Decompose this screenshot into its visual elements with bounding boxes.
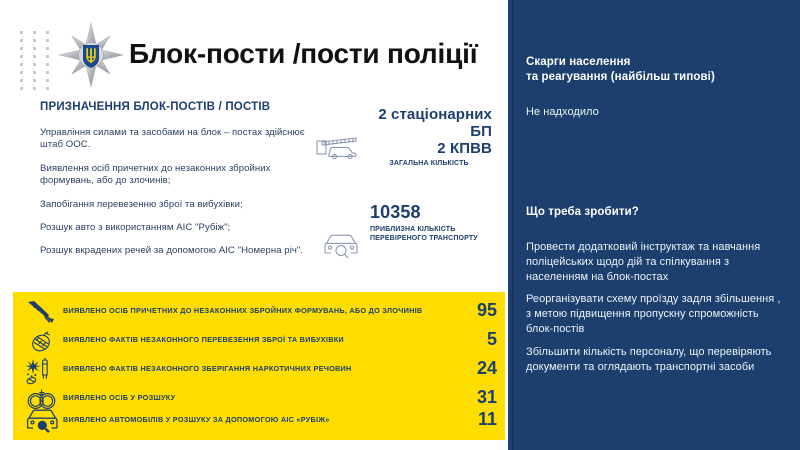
- right-info-panel: Скарги населеннята реагування (найбільш …: [508, 0, 800, 450]
- result-label: ВИЯВЛЕНО ФАКТІВ НЕЗАКОННОГО ПЕРЕВЕЗЕННЯ …: [63, 335, 445, 345]
- result-label: ВИЯВЛЕНО АВТОМОБІЛІВ У РОЗШУКУ ЗА ДОПОМО…: [63, 415, 445, 425]
- result-value: 95: [445, 297, 497, 323]
- todo-title: Що треба зробити?: [526, 205, 776, 220]
- grenade-icon: [25, 327, 59, 356]
- table-row: ВИЯВЛЕНО АВТОМОБІЛІВ У РОЗШУКУ ЗА ДОПОМО…: [13, 407, 505, 436]
- list-item: Управління силами та засобами на блок – …: [40, 127, 312, 152]
- car-magnifier-icon: [322, 232, 360, 265]
- list-item: Виявлення осіб причетних до незаконних з…: [40, 163, 312, 188]
- todo-item-1: Провести додатковий інструктаж та навчан…: [526, 240, 778, 285]
- list-item: Запобігання перевезенню зброї та вибухів…: [40, 199, 312, 211]
- result-label: ВИЯВЛЕНО ОСІБ ПРИЧЕТНИХ ДО НЕЗАКОННИХ ЗБ…: [63, 306, 445, 316]
- result-label: ВИЯВЛЕНО ФАКТІВ НЕЗАКОННОГО ЗБЕРІГАННЯ Н…: [63, 364, 445, 374]
- complaints-title: Скарги населеннята реагування (найбільш …: [526, 55, 776, 85]
- result-value: 11: [445, 406, 497, 432]
- rifle-icon: [25, 298, 59, 327]
- table-row: ВИЯВЛЕНО ФАКТІВ НЕЗАКОННОГО ПЕРЕВЕЗЕННЯ …: [13, 327, 505, 356]
- purpose-list: Управління силами та засобами на блок – …: [40, 127, 312, 269]
- result-label: ВИЯВЛЕНО ОСІБ У РОЗШУКУ: [63, 393, 445, 403]
- complaints-value: Не надходило: [526, 105, 776, 120]
- transport-caption: ПРИБЛИЗНА КІЛЬКІСТЬ ПЕРЕВІРЕНОГО ТРАНСПО…: [370, 221, 496, 243]
- drugs-icon: [25, 356, 59, 385]
- police-emblem-icon: [58, 22, 124, 88]
- table-row: ВИЯВЛЕНО ФАКТІВ НЕЗАКОННОГО ЗБЕРІГАННЯ Н…: [13, 356, 505, 385]
- list-item: Розшук вкрадених речей за допомогою АІС …: [40, 245, 312, 257]
- panel-edge-line: [512, 0, 514, 450]
- section-heading: ПРИЗНАЧЕННЯ БЛОК-ПОСТІВ / ПОСТІВ: [40, 101, 340, 113]
- result-value: 5: [445, 326, 497, 352]
- dot-grid-decoration: [20, 31, 59, 95]
- checkpoints-line1: 2 стаціонарних БП: [362, 106, 496, 140]
- slide-root: Скарги населеннята реагування (найбільш …: [0, 0, 800, 450]
- results-panel: ВИЯВЛЕНО ОСІБ ПРИЧЕТНИХ ДО НЕЗАКОННИХ ЗБ…: [13, 292, 505, 440]
- checkpoint-barrier-car-icon: [316, 134, 360, 165]
- transport-value: 10358: [370, 204, 496, 221]
- page-title: Блок-пости /пости поліції: [129, 38, 499, 70]
- checkpoints-caption: ЗАГАЛЬНА КІЛЬКІСТЬ: [362, 157, 496, 169]
- todo-item-3: Збільшити кількість персоналу, що переві…: [526, 345, 776, 375]
- list-item: Розшук авто з використанням АІС "Рубіж";: [40, 222, 312, 234]
- car-search-icon: [25, 407, 59, 436]
- table-row: ВИЯВЛЕНО ОСІБ ПРИЧЕТНИХ ДО НЕЗАКОННИХ ЗБ…: [13, 298, 505, 327]
- todo-item-2: Реорганізувати схему проїзду задля збіль…: [526, 292, 781, 337]
- result-value: 24: [445, 355, 497, 381]
- checkpoints-line2: 2 КПВВ: [362, 140, 496, 157]
